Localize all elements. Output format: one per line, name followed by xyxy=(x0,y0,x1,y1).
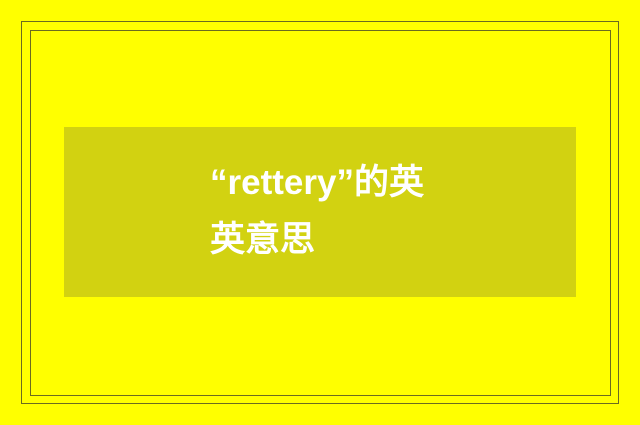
image-canvas: “rettery”的英英意思 xyxy=(0,0,640,425)
page-title: “rettery”的英英意思 xyxy=(210,155,455,268)
title-panel: “rettery”的英英意思 xyxy=(64,127,576,297)
